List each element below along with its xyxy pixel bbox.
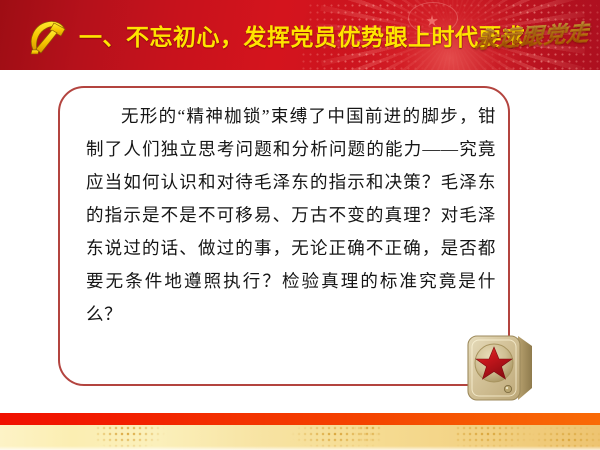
footer-band-fade: [0, 446, 600, 450]
slide-header: 一、不忘初心，发挥党员优势跟上时代要求 永远跟党走: [0, 0, 600, 70]
presentation-slide: 一、不忘初心，发挥党员优势跟上时代要求 永远跟党走 无形的“精神枷锁”束缚了中国…: [0, 0, 600, 450]
footer-band: [0, 425, 600, 450]
hammer-sickle-icon: [26, 17, 70, 57]
slide-title: 一、不忘初心，发挥党员优势跟上时代要求: [79, 18, 526, 52]
red-star-badge-icon: [462, 330, 538, 408]
footer-accent-stripe: [0, 413, 600, 425]
content-body-text: 无形的“精神枷锁”束缚了中国前进的脚步，钳制了人们独立思考问题和分析问题的能力—…: [86, 100, 496, 331]
